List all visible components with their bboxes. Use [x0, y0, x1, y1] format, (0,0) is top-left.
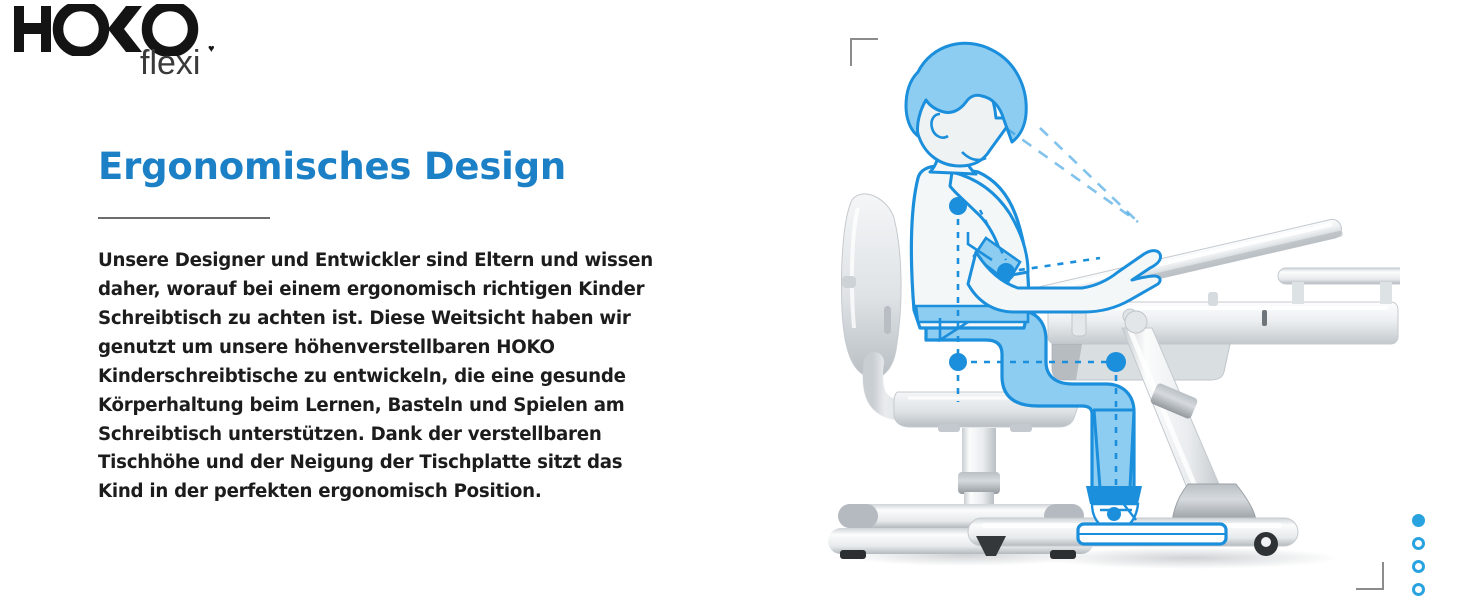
- brand-sub-wordmark: flexi: [140, 46, 200, 80]
- chair-seat-bracket-right: [1010, 424, 1032, 432]
- feature-description: Unsere Designer und Entwickler sind Elte…: [98, 247, 658, 507]
- desk-pin: [1208, 292, 1218, 306]
- chair-foot-right: [1050, 550, 1076, 559]
- hip-joint-marker: [949, 353, 967, 371]
- ankle-joint-marker: [1107, 507, 1121, 521]
- elbow-joint-marker: [997, 263, 1015, 281]
- chair-column-collar: [958, 472, 1000, 494]
- carousel-dot-2[interactable]: [1412, 537, 1425, 550]
- shoulder-joint-marker: [949, 197, 967, 215]
- chair-seat-bracket-left: [938, 424, 960, 432]
- chair-foot-left: [840, 550, 866, 559]
- chair-backrest-knob: [842, 276, 856, 288]
- desk-side-rail: [1278, 268, 1400, 284]
- chair-base-cap-left: [838, 504, 878, 528]
- sightline-diagonal: [1040, 128, 1138, 222]
- child-shin: [1094, 410, 1134, 488]
- child-foot: [1086, 486, 1142, 504]
- desk-rail-post-left: [1292, 282, 1304, 304]
- desk-leg-foot-joint: [1172, 484, 1256, 522]
- carousel-dot-1[interactable]: [1412, 514, 1425, 527]
- page-title: Ergonomisches Design: [98, 146, 678, 187]
- brand-logo[interactable]: flexi ♥: [12, 4, 272, 96]
- ergonomics-illustration: [800, 10, 1400, 590]
- chair-column-upper: [962, 428, 996, 476]
- desk-caster-hub: [1261, 537, 1271, 547]
- desk-rail-post-right: [1380, 282, 1392, 304]
- child-at-desk-illustration-icon: [800, 10, 1400, 590]
- sightline-upper: [1006, 128, 1138, 222]
- heart-icon: ♥: [208, 44, 218, 54]
- knee-joint-marker: [1106, 352, 1126, 372]
- carousel-dot-3[interactable]: [1412, 560, 1425, 573]
- product-feature-slide: flexi ♥ Ergonomisches Design Unsere Desi…: [0, 0, 1464, 600]
- chair-backrest-slot: [884, 306, 891, 334]
- carousel-pagination[interactable]: [1412, 514, 1425, 596]
- carousel-dot-4[interactable]: [1412, 583, 1425, 596]
- title-divider: [98, 217, 270, 219]
- desk-slot-indicator: [1262, 310, 1267, 326]
- feature-copy-block: Ergonomisches Design Unsere Designer und…: [98, 146, 678, 507]
- footrest: [1078, 524, 1226, 544]
- desk-leg-pivot: [1125, 311, 1147, 333]
- child-figure: [906, 43, 1161, 530]
